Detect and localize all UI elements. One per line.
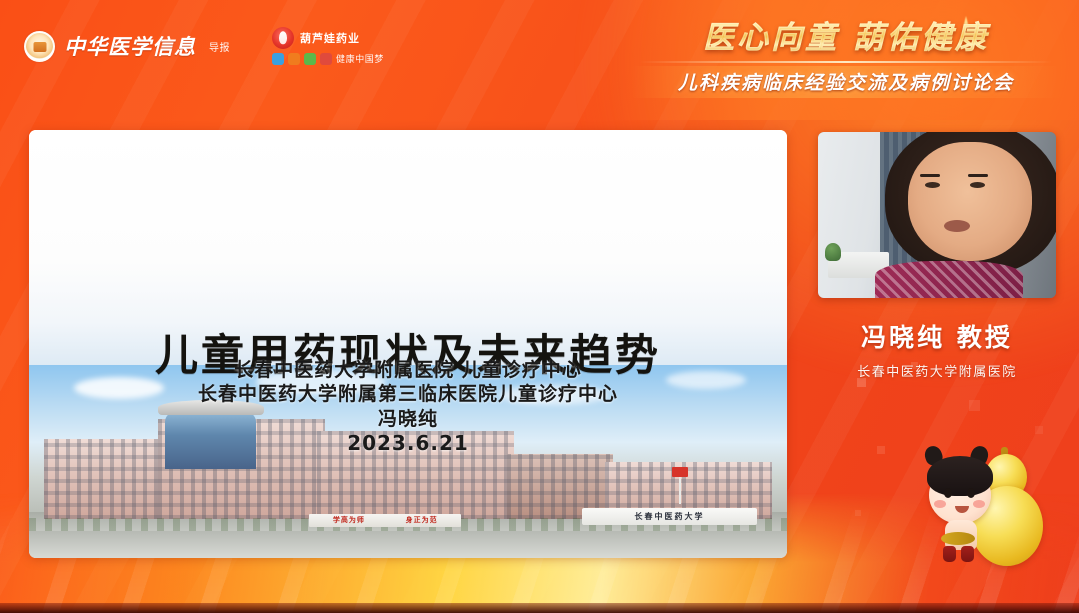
speaker-organization: 长春中医药大学附属医院: [818, 361, 1056, 380]
slide-credit-line: 长春中医药大学附属第三临床医院儿童诊疗中心: [29, 382, 787, 406]
mascot-eye: [944, 488, 952, 498]
gourd-badge-icon: [272, 27, 294, 49]
presenter-clothing: [875, 261, 1023, 298]
event-subtitle: 儿科疾病临床经验交流及病例讨论会: [631, 68, 1061, 95]
partner-chip-blue-icon: [272, 53, 284, 65]
gate-sign-text: 长春中医药大学: [635, 511, 705, 522]
presenter-eye: [925, 182, 940, 188]
logo-partner-sponsor: 葫芦娃药业 健康中国梦: [272, 27, 384, 65]
wall-sign-left-text: 学高为师: [333, 515, 365, 525]
header-logo-row: 中华医学信息 导报 葫芦娃药业 健康中国梦: [24, 27, 384, 65]
mascot-eye: [967, 488, 975, 498]
event-title: 医心向童 葫佑健康: [631, 12, 1061, 57]
event-banner: 医心向童 葫佑健康 儿科疾病临床经验交流及病例讨论会: [631, 12, 1061, 98]
cmj-wordmark: 中华医学信息: [64, 31, 196, 61]
event-divider: [640, 61, 1053, 63]
cmj-seal-icon: [24, 31, 55, 62]
slide-credit-date: 2023.6.21: [29, 431, 787, 457]
mascot-calabash-boy-icon: [915, 440, 1063, 590]
mascot-leaf-skirt: [941, 532, 975, 545]
mascot-boot: [943, 546, 956, 562]
presenter-face: [908, 142, 1032, 262]
partner-chip-red-icon: [320, 53, 332, 65]
presenter-eyebrow: [920, 174, 940, 177]
presenter-video-feed[interactable]: [818, 132, 1056, 298]
photo-university-sign: 长春中医药大学: [582, 508, 756, 525]
broadcast-stage: 中华医学信息 导报 葫芦娃药业 健康中国梦 医心向童 葫佑健康 儿科疾病临床经验…: [0, 0, 1079, 613]
slide-credit-line: 长春中医药大学附属医院 儿童诊疗中心: [29, 358, 787, 382]
mascot-cheek: [934, 500, 946, 508]
wall-sign-right-text: 身正为范: [406, 515, 438, 525]
video-background-plant: [825, 243, 841, 261]
partner-name: 葫芦娃药业: [300, 30, 360, 46]
partner-chip-orange-icon: [288, 53, 300, 65]
speaker-name: 冯晓纯 教授: [818, 318, 1056, 354]
partner-chip-green-icon: [304, 53, 316, 65]
cmj-wordmark-suffix: 导报: [209, 39, 230, 54]
photo-wall-calligraphy: 学高为师 身正为范: [309, 514, 461, 527]
partner-tagline: 健康中国梦: [336, 52, 384, 65]
speaker-caption: 冯晓纯 教授 长春中医药大学附属医院: [818, 318, 1056, 380]
mascot-hair: [927, 456, 993, 496]
photo-road: [29, 531, 787, 558]
photo-flagpole: [679, 473, 681, 504]
mascot-cheek: [973, 500, 985, 508]
slide-credits: 长春中医药大学附属医院 儿童诊疗中心 长春中医药大学附属第三临床医院儿童诊疗中心…: [29, 358, 787, 457]
presentation-slide[interactable]: 学高为师 身正为范 长春中医药大学 儿童用药现状及未来趋势 长春中医药大学附属医…: [29, 130, 787, 558]
presenter-eye: [970, 182, 985, 188]
logo-chinese-medical-journal: 中华医学信息 导报: [24, 31, 230, 62]
photo-flag: [672, 467, 688, 477]
mascot-boot: [961, 546, 974, 562]
presenter-eyebrow: [968, 174, 988, 177]
background-bottom-edge: [0, 603, 1079, 613]
presenter-mouth: [944, 220, 970, 232]
slide-credit-author: 冯晓纯: [29, 407, 787, 431]
